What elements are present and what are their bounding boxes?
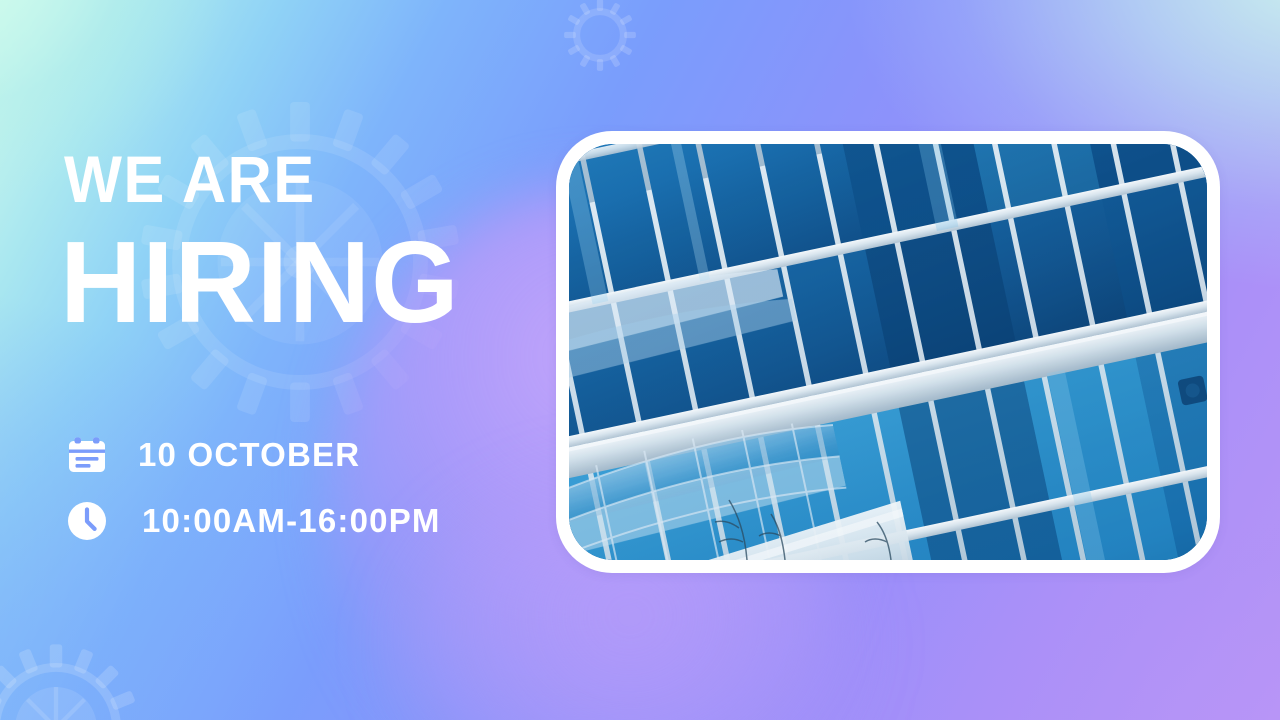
text-column: WE ARE HIRING 10 OCTOBER [64, 0, 584, 720]
event-date-label: 10 OCTOBER [138, 436, 360, 474]
event-time-label: 10:00AM-16:00PM [142, 502, 441, 540]
headline-small: WE ARE [64, 146, 316, 212]
clock-icon [64, 498, 110, 544]
calendar-icon [64, 432, 110, 478]
event-date-row: 10 OCTOBER [64, 432, 360, 478]
hiring-banner: WE ARE HIRING 10 OCTOBER [0, 0, 1280, 720]
event-time-row: 10:00AM-16:00PM [64, 498, 441, 544]
headline-large: HIRING [60, 224, 460, 340]
photo-card [556, 131, 1220, 573]
building-photo [569, 144, 1207, 560]
